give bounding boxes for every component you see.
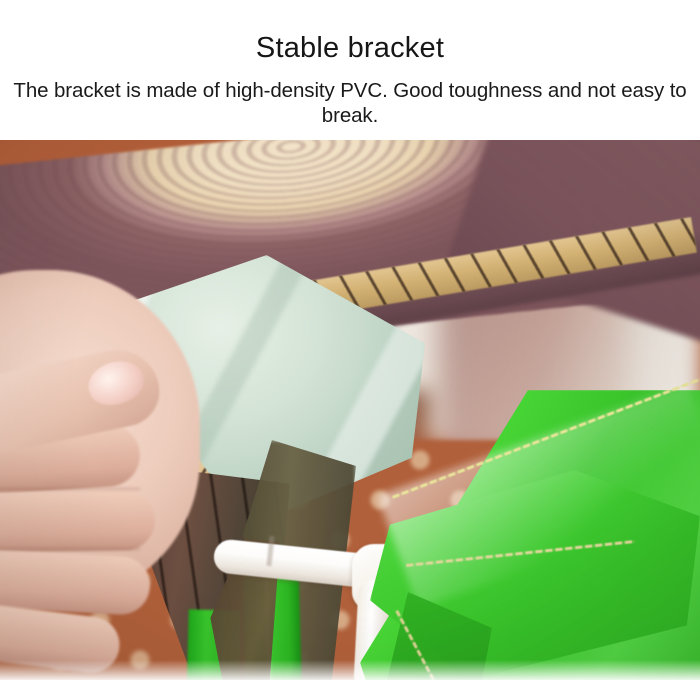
- page-footer: [0, 680, 700, 700]
- product-detail-page: Stable bracket The bracket is made of hi…: [0, 0, 700, 700]
- photo-vignette: [0, 140, 700, 680]
- page-subtitle: The bracket is made of high-density PVC.…: [0, 78, 700, 128]
- product-photo: [0, 140, 700, 680]
- page-title: Stable bracket: [0, 31, 700, 65]
- text-header: Stable bracket The bracket is made of hi…: [0, 0, 700, 140]
- photo-bottom-fade: [0, 660, 700, 680]
